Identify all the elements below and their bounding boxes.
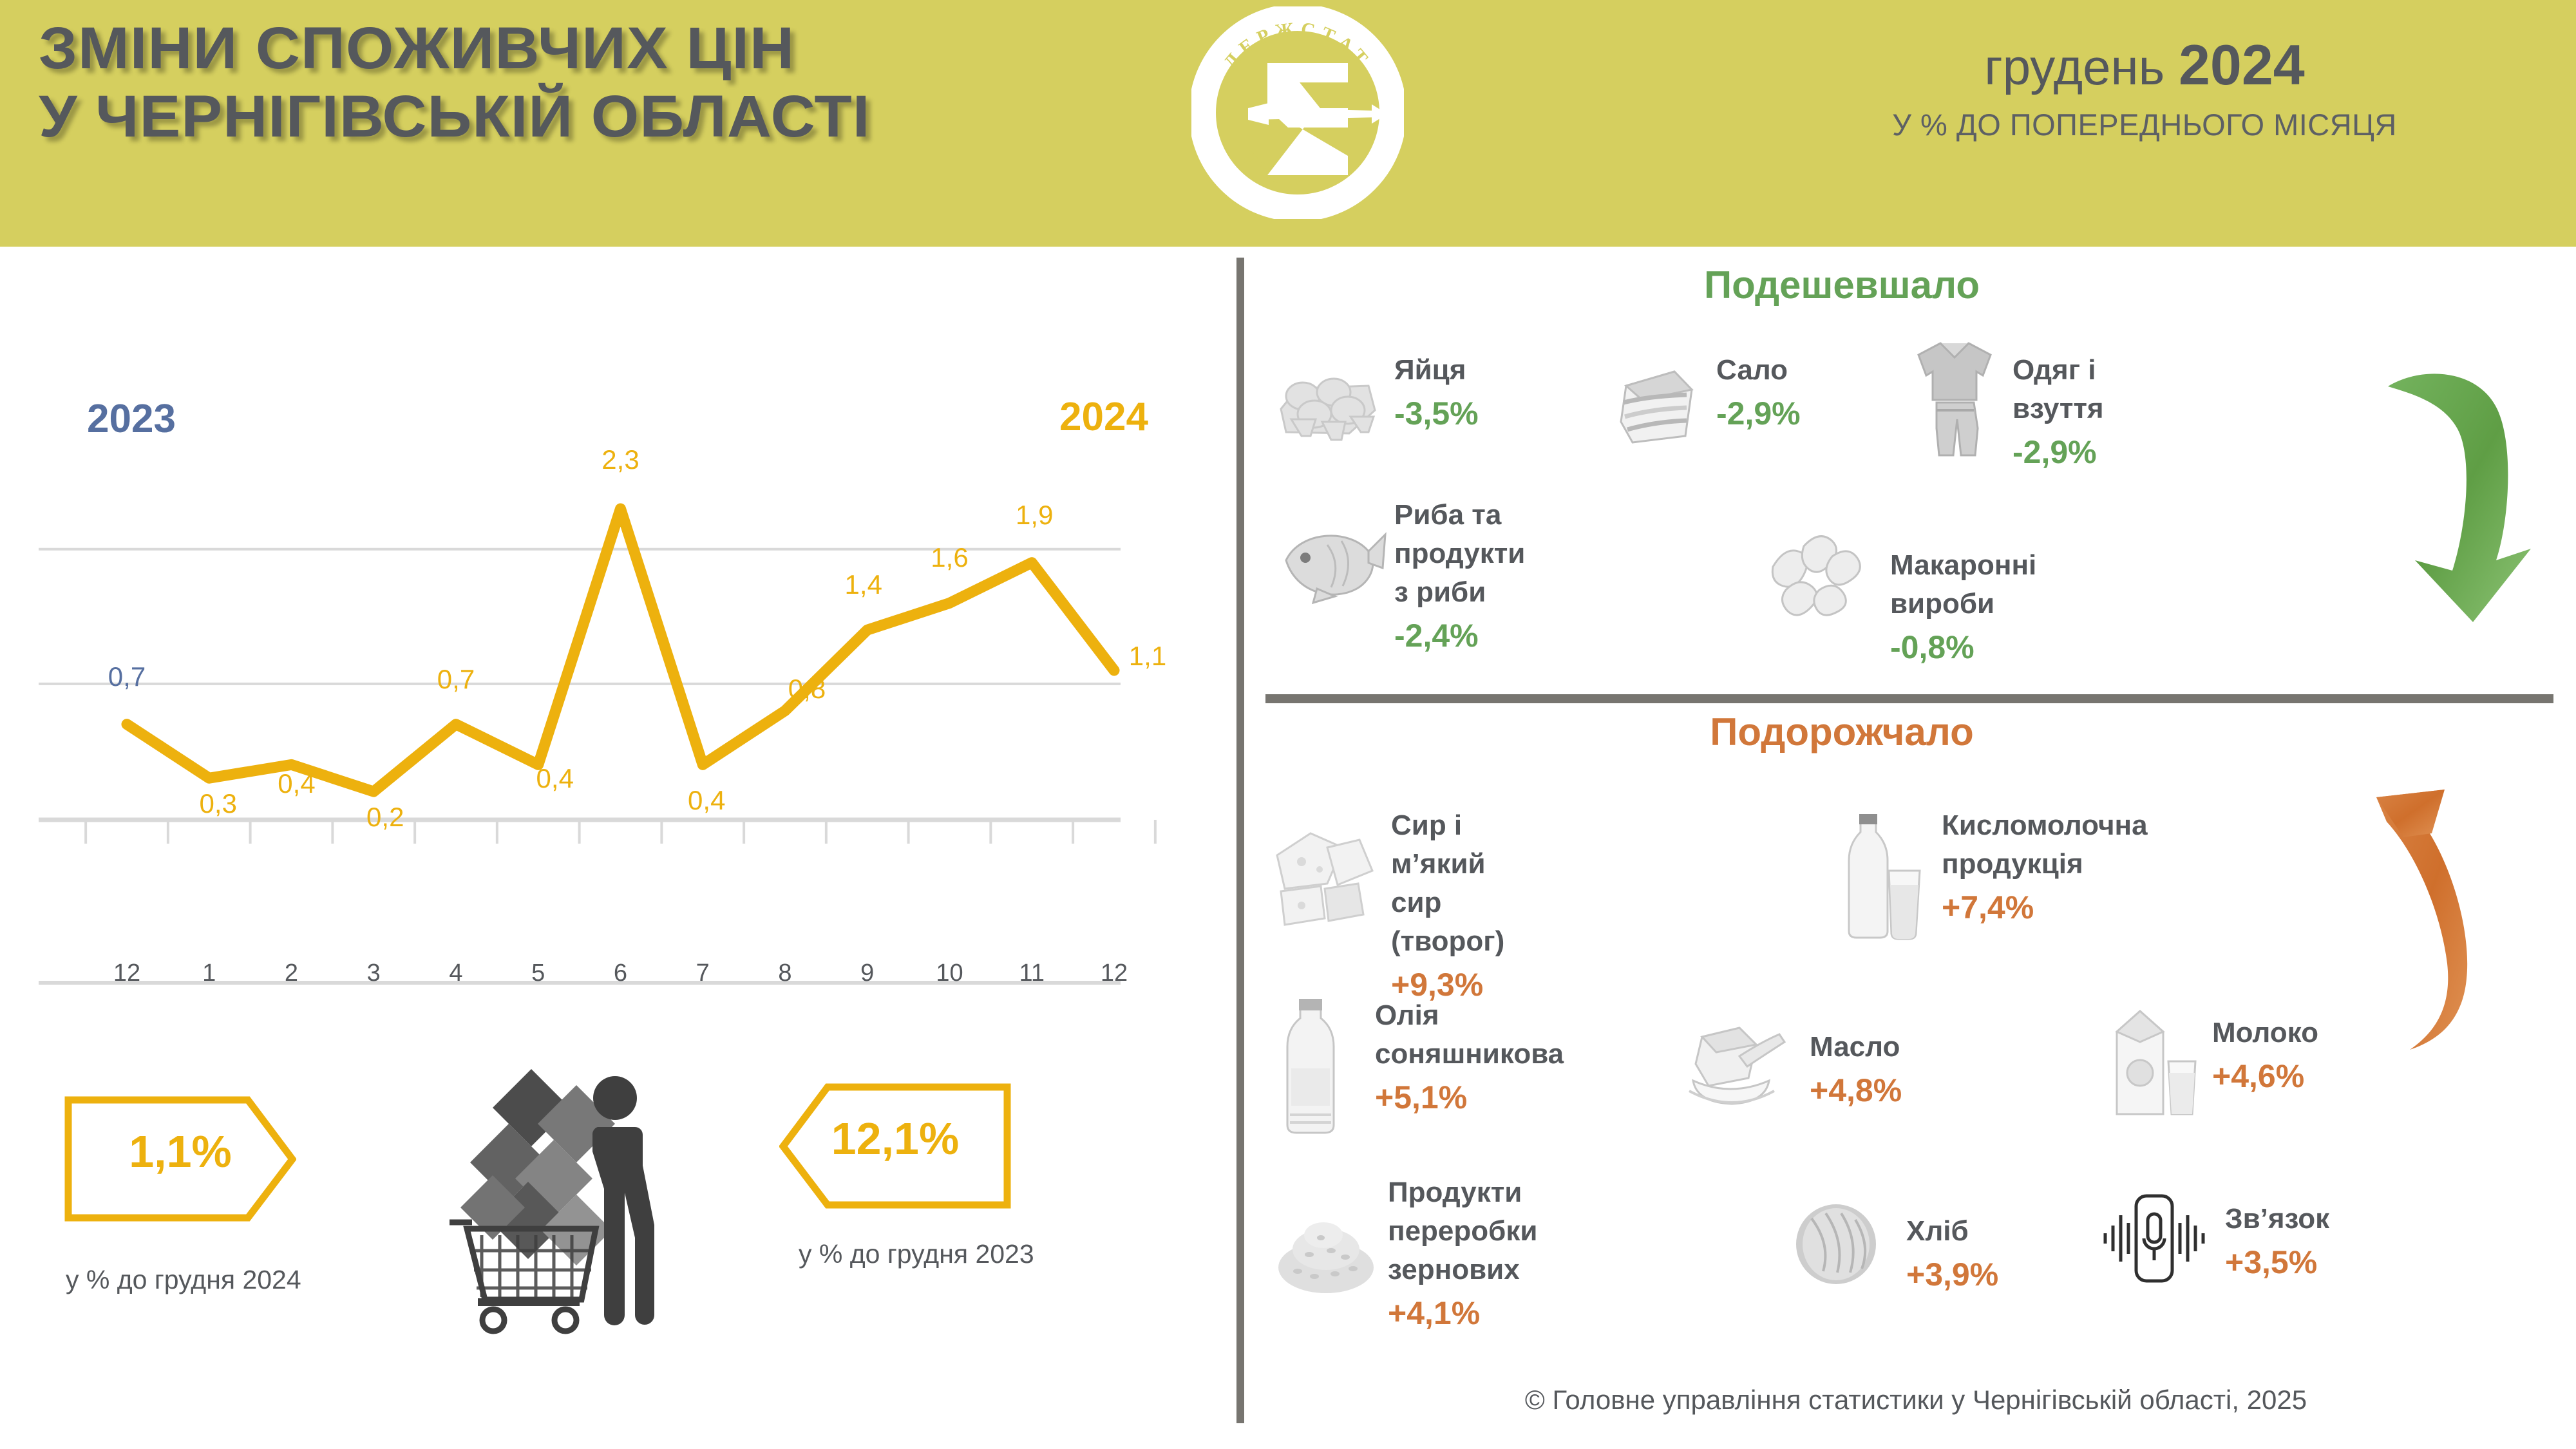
item-bread-name: Хліб xyxy=(1906,1212,1998,1251)
item-clothing-name: Одяг і взуття xyxy=(2012,351,2104,428)
x-tick-4: 4 xyxy=(449,960,462,987)
chart-label-2: 0,4 xyxy=(278,768,315,799)
x-tick-7: 7 xyxy=(696,960,710,987)
page-header: ЗМІНИ СПОЖИВЧИХ ЦІН У ЧЕРНІГІВСЬКІЙ ОБЛА… xyxy=(0,0,2576,247)
item-bread-value: +3,9% xyxy=(1906,1253,1998,1296)
badge-annual: 12,1% xyxy=(779,1083,1011,1209)
item-grain-text: Продукти переробки зернових +4,1% xyxy=(1388,1173,1537,1334)
x-tick-12: 12 xyxy=(113,960,140,987)
item-clothing-text: Одяг і взуття -2,9% xyxy=(2012,351,2104,473)
chart-label-12: 1,1 xyxy=(1129,641,1166,672)
item-lard-name: Сало xyxy=(1716,351,1801,390)
chart-label-8: 0,8 xyxy=(788,674,826,705)
x-tick-5: 5 xyxy=(531,960,545,987)
item-eggs-name: Яйця xyxy=(1394,351,1479,390)
x-tick-2: 2 xyxy=(285,960,298,987)
cpi-line-chart: 2023 2024 0,70,30,40,20,70,42,30,40,81,4… xyxy=(39,258,1217,1030)
x-tick-8: 8 xyxy=(778,960,791,987)
vertical-divider xyxy=(1236,258,1244,1423)
x-tick-11: 11 xyxy=(1019,960,1045,987)
item-cheese-text: Сир і м’який сир (творог) +9,3% xyxy=(1391,806,1504,1006)
bread-icon xyxy=(1781,1199,1893,1293)
item-milk-value: +4,6% xyxy=(2212,1055,2318,1097)
item-fish-value: -2,4% xyxy=(1394,614,1525,657)
badge-monthly: 1,1% xyxy=(64,1096,296,1222)
title-line-1: ЗМІНИ СПОЖИВЧИХ ЦІН xyxy=(39,14,1191,82)
dairy-bottle-icon xyxy=(1832,813,1929,945)
item-pasta-text: Макаронні вироби -0,8% xyxy=(1890,546,2036,668)
item-oil-name: Олія соняшникова xyxy=(1375,996,1564,1074)
item-eggs-value: -3,5% xyxy=(1394,392,1479,435)
date-year: 2024 xyxy=(2179,33,2305,97)
item-clothing-value: -2,9% xyxy=(2012,431,2104,473)
expensive-title: Подорожчало xyxy=(1265,710,2418,754)
x-tick-6: 6 xyxy=(614,960,627,987)
badge-monthly-value: 1,1% xyxy=(64,1126,296,1177)
shopping-cart-icon xyxy=(431,1063,702,1340)
chart-label-10: 1,6 xyxy=(931,542,968,573)
item-grain-name: Продукти переробки зернових xyxy=(1388,1173,1537,1289)
item-oil-value: +5,1% xyxy=(1375,1076,1564,1119)
item-cheese-name: Сир і м’який сир (творог) xyxy=(1391,806,1504,961)
item-communication-name: Зв’язок xyxy=(2225,1200,2329,1238)
chart-canvas xyxy=(39,258,1217,1030)
chart-label-0: 0,7 xyxy=(108,661,146,692)
item-milk-name: Молоко xyxy=(2212,1014,2318,1052)
item-fish-name: Риба та продукти з риби xyxy=(1394,496,1525,612)
fish-icon xyxy=(1272,520,1388,607)
grain-icon xyxy=(1272,1212,1381,1302)
curved-arrow-down-icon xyxy=(2376,367,2570,644)
item-pasta-value: -0,8% xyxy=(1890,626,2036,668)
chart-label-3: 0,2 xyxy=(366,802,404,833)
butter-icon xyxy=(1678,1019,1797,1119)
item-butter-value: +4,8% xyxy=(1810,1069,1902,1112)
chart-axis xyxy=(39,820,1155,983)
curved-arrow-up-icon xyxy=(2370,766,2570,1082)
cheaper-title: Подешевшало xyxy=(1265,263,2418,307)
chart-label-5: 0,4 xyxy=(536,763,574,794)
copyright-text: © Головне управління статистики у Черніг… xyxy=(1265,1385,2566,1416)
item-butter-name: Масло xyxy=(1810,1028,1902,1066)
lard-icon xyxy=(1607,360,1703,450)
chart-label-1: 0,3 xyxy=(200,788,237,819)
milk-carton-icon xyxy=(2103,1006,2202,1122)
egg-carton-icon xyxy=(1272,357,1381,451)
badge-monthly-caption: у % до грудня 2024 xyxy=(66,1261,368,1298)
badge-annual-value: 12,1% xyxy=(779,1113,1011,1164)
x-tick-12: 12 xyxy=(1101,960,1128,987)
report-date: грудень 2024 У % ДО ПОПЕРЕДНЬОГО МІСЯЦЯ xyxy=(1739,32,2550,142)
cheese-icon xyxy=(1265,824,1378,937)
date-subtitle: У % ДО ПОПЕРЕДНЬОГО МІСЯЦЯ xyxy=(1739,107,2550,142)
pasta-icon xyxy=(1755,528,1877,621)
item-oil-text: Олія соняшникова +5,1% xyxy=(1375,996,1564,1119)
chart-label-9: 1,4 xyxy=(845,569,882,600)
title-line-2: У ЧЕРНІГІВСЬКІЙ ОБЛАСТІ xyxy=(39,82,1191,151)
item-communication-value: +3,5% xyxy=(2225,1241,2329,1283)
item-fish-text: Риба та продукти з риби -2,4% xyxy=(1394,496,1525,657)
item-dairy-text: Кисломолочна продукція +7,4% xyxy=(1942,806,2148,929)
x-tick-1: 1 xyxy=(202,960,216,987)
chart-label-4: 0,7 xyxy=(437,664,475,695)
x-tick-3: 3 xyxy=(367,960,381,987)
item-butter-text: Масло +4,8% xyxy=(1810,1028,1902,1112)
page-title: ЗМІНИ СПОЖИВЧИХ ЦІН У ЧЕРНІГІВСЬКІЙ ОБЛА… xyxy=(39,14,1146,151)
chart-label-7: 0,4 xyxy=(688,785,725,816)
summary-badges: 1,1% у % до грудня 2024 xyxy=(39,1056,1224,1417)
chart-label-11: 1,9 xyxy=(1016,500,1053,531)
communication-icon xyxy=(2096,1189,2212,1289)
item-lard-value: -2,9% xyxy=(1716,392,1801,435)
item-dairy-name: Кисломолочна продукція xyxy=(1942,806,2148,884)
oil-bottle-icon xyxy=(1272,999,1349,1141)
chart-label-6: 2,3 xyxy=(601,444,639,475)
item-communication-text: Зв’язок +3,5% xyxy=(2225,1200,2329,1283)
item-milk-text: Молоко +4,6% xyxy=(2212,1014,2318,1097)
item-eggs-text: Яйця -3,5% xyxy=(1394,351,1479,435)
date-month: грудень xyxy=(1984,39,2164,95)
item-grain-value: +4,1% xyxy=(1388,1292,1537,1334)
item-pasta-name: Макаронні вироби xyxy=(1890,546,2036,623)
item-bread-text: Хліб +3,9% xyxy=(1906,1212,1998,1296)
item-lard-text: Сало -2,9% xyxy=(1716,351,1801,435)
item-dairy-value: +7,4% xyxy=(1942,886,2148,929)
derzhstat-logo: ДЕРЖСТАТ УКРАЇНИ xyxy=(1191,6,1404,219)
clothing-icon xyxy=(1909,338,2000,460)
badge-annual-caption: у % до грудня 2023 xyxy=(799,1235,1101,1273)
x-tick-10: 10 xyxy=(936,960,963,987)
horizontal-divider xyxy=(1265,694,2553,703)
x-tick-9: 9 xyxy=(860,960,874,987)
